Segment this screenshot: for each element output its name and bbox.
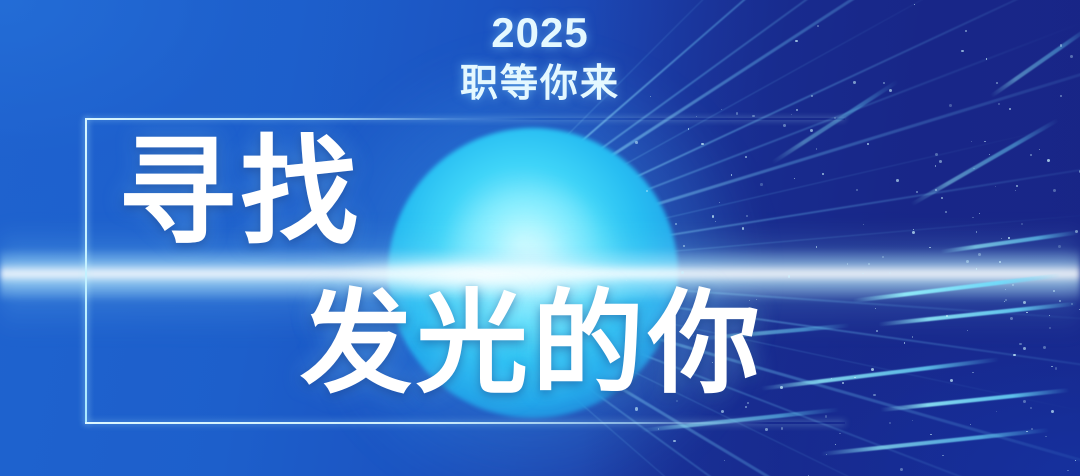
sparkle-particle xyxy=(973,168,975,170)
sparkle-particle xyxy=(765,428,768,431)
sparkle-particle xyxy=(875,308,876,309)
sparkle-particle xyxy=(904,342,905,343)
sparkle-particle xyxy=(1043,346,1046,349)
sparkle-particle xyxy=(1053,189,1056,192)
recruitment-poster-banner: 2025 职等你来 寻找 发光的你 xyxy=(0,0,1080,476)
headline-line-2: 发光的你 xyxy=(300,288,764,400)
sparkle-particle xyxy=(745,156,747,158)
sparkle-particle xyxy=(752,115,754,117)
sparkle-particle xyxy=(871,368,874,371)
sparkle-particle xyxy=(635,407,638,410)
sparkle-particle xyxy=(889,272,891,274)
sparkle-particle xyxy=(810,129,813,132)
sparkle-particle xyxy=(930,434,931,435)
sparkle-particle xyxy=(635,141,638,144)
sparkle-particle xyxy=(1030,154,1032,156)
sparkle-particle xyxy=(949,104,952,107)
sparkle-particle xyxy=(736,112,738,114)
tagline-text: 职等你来 xyxy=(0,62,1080,104)
sparkle-particle xyxy=(1013,354,1016,357)
sparkle-particle xyxy=(831,378,832,379)
sparkle-particle xyxy=(882,256,884,258)
sparkle-particle xyxy=(1049,327,1051,329)
sparkle-particle xyxy=(1053,290,1055,292)
sparkle-particle xyxy=(863,224,864,225)
year-label: 2025 xyxy=(0,12,1080,54)
sparkle-particle xyxy=(1001,238,1002,239)
sparkle-particle xyxy=(1055,367,1057,369)
sparkle-particle xyxy=(745,406,747,408)
sparkle-particle xyxy=(712,215,715,218)
sparkle-particle xyxy=(1058,245,1061,248)
sparkle-particle xyxy=(950,379,953,382)
sparkle-particle xyxy=(945,211,947,213)
sparkle-particle xyxy=(825,415,827,417)
sparkle-particle xyxy=(1067,470,1068,471)
sparkle-particle xyxy=(1008,237,1009,238)
sparkle-particle xyxy=(935,189,937,191)
headline-line-1: 寻找 xyxy=(118,134,362,252)
sparkle-particle xyxy=(781,427,784,430)
sparkle-particle xyxy=(673,440,676,443)
sparkle-particle xyxy=(683,245,685,247)
sparkle-particle xyxy=(675,223,677,225)
sparkle-particle xyxy=(1005,299,1007,301)
sparkle-particle xyxy=(826,454,827,455)
sparkle-particle xyxy=(1070,55,1073,58)
sparkle-particle xyxy=(900,468,903,471)
sparkle-particle xyxy=(984,141,986,143)
sparkle-particle xyxy=(742,227,744,229)
sparkle-particle xyxy=(1045,436,1047,438)
sparkle-particle xyxy=(1023,301,1026,304)
sparkle-particle xyxy=(939,160,942,163)
sparkle-particle xyxy=(1031,428,1033,430)
sparkle-particle xyxy=(1016,185,1017,186)
sparkle-particle xyxy=(896,179,899,182)
sparkle-particle xyxy=(721,410,724,413)
sparkle-particle xyxy=(868,263,871,266)
sparkle-particle xyxy=(1075,460,1076,461)
sparkle-particle xyxy=(760,183,763,186)
sparkle-particle xyxy=(912,231,915,234)
sparkle-particle xyxy=(681,271,684,274)
sparkle-particle xyxy=(791,114,792,115)
sparkle-particle xyxy=(941,197,943,199)
